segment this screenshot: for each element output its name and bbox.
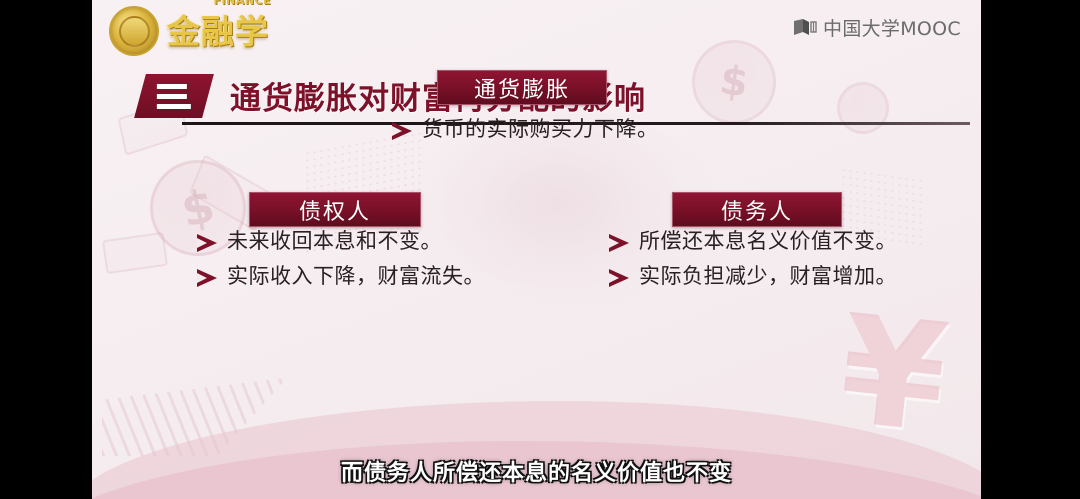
arrow-bullet-icon — [392, 122, 412, 140]
list-item-text: 所偿还本息名义价值不变。 — [639, 228, 897, 254]
label-box-inflation: 通货膨胀 — [437, 70, 607, 105]
slide-canvas: $ $ ¥ 金融学 FINANCE 中国大学MOOC — [92, 0, 981, 499]
stripe-decoration — [102, 378, 287, 456]
list-item: 货币的实际购买力下降。 — [392, 116, 659, 142]
platform-branding: 中国大学MOOC — [793, 14, 961, 41]
arrow-bullet-icon — [609, 269, 629, 287]
banknote-decoration — [102, 232, 168, 274]
arrow-bullet-icon — [609, 234, 629, 252]
gold-seal-icon — [109, 6, 159, 56]
list-item: 未来收回本息和不变。 — [197, 228, 485, 254]
logo-title: 金融学 — [167, 15, 269, 48]
mooc-book-icon — [793, 19, 817, 37]
list-item: 实际负担减少，财富增加。 — [609, 263, 897, 289]
list-item: 实际收入下降，财富流失。 — [197, 263, 485, 289]
platform-label: 中国大学MOOC — [823, 14, 961, 41]
list-item-text: 货币的实际购买力下降。 — [422, 116, 659, 142]
video-subtitle: 而债务人所偿还本息的名义价值也不变 — [92, 455, 981, 487]
arrow-bullet-icon — [197, 269, 217, 287]
list-item-text: 实际收入下降，财富流失。 — [227, 263, 485, 289]
list-item-text: 实际负担减少，财富增加。 — [639, 263, 897, 289]
bullet-list-inflation: 货币的实际购买力下降。 — [392, 116, 659, 151]
section-number-badge — [134, 74, 214, 118]
course-logo: 金融学 FINANCE — [109, 6, 269, 56]
label-box-creditor: 债权人 — [249, 192, 421, 227]
logo-subtitle: FINANCE — [213, 0, 271, 7]
list-item: 所偿还本息名义价值不变。 — [609, 228, 897, 254]
arrow-bullet-icon — [197, 234, 217, 252]
bullet-list-creditor: 未来收回本息和不变。 实际收入下降，财富流失。 — [197, 228, 485, 299]
letterbox-right — [981, 0, 1080, 499]
label-box-debtor: 债务人 — [672, 192, 842, 227]
bullet-list-debtor: 所偿还本息名义价值不变。 实际负担减少，财富增加。 — [609, 228, 897, 299]
yen-symbol-icon: ¥ — [833, 295, 952, 455]
numeral-three-icon — [157, 83, 191, 108]
letterbox-left — [0, 0, 92, 499]
video-player-stage: $ $ ¥ 金融学 FINANCE 中国大学MOOC — [0, 0, 1080, 499]
list-item-text: 未来收回本息和不变。 — [227, 228, 442, 254]
